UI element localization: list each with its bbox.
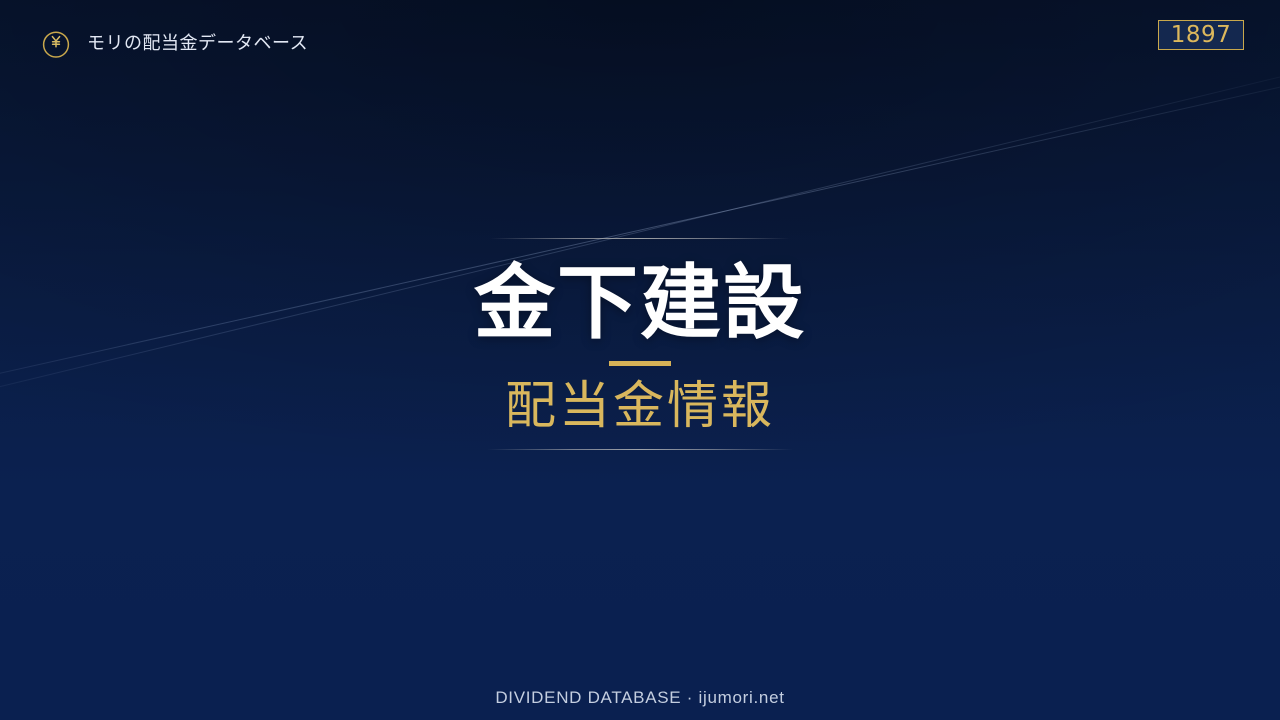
page-subtitle: 配当金情報 (505, 379, 775, 435)
year-badge: 1897 (1158, 20, 1244, 50)
divider-top (490, 238, 790, 239)
page-title: 金下建設 (474, 261, 806, 347)
gold-accent-dash (609, 361, 671, 366)
slide-footer: DIVIDEND DATABASE · ijumori.net (0, 687, 1280, 709)
year-badge-label: 1897 (1171, 24, 1232, 47)
brand-lockup: モリの配当金データベース (40, 28, 308, 60)
title-block: 金下建設 配当金情報 (0, 238, 1280, 450)
title-slide: モリの配当金データベース 1897 金下建設 配当金情報 DIVIDEND DA… (0, 0, 1280, 720)
yen-coin-icon (40, 28, 72, 60)
divider-bottom (487, 449, 793, 450)
footer-label: DIVIDEND DATABASE · ijumori.net (495, 688, 784, 707)
slide-header: モリの配当金データベース 1897 (0, 0, 1280, 92)
brand-title: モリの配当金データベース (87, 28, 308, 60)
